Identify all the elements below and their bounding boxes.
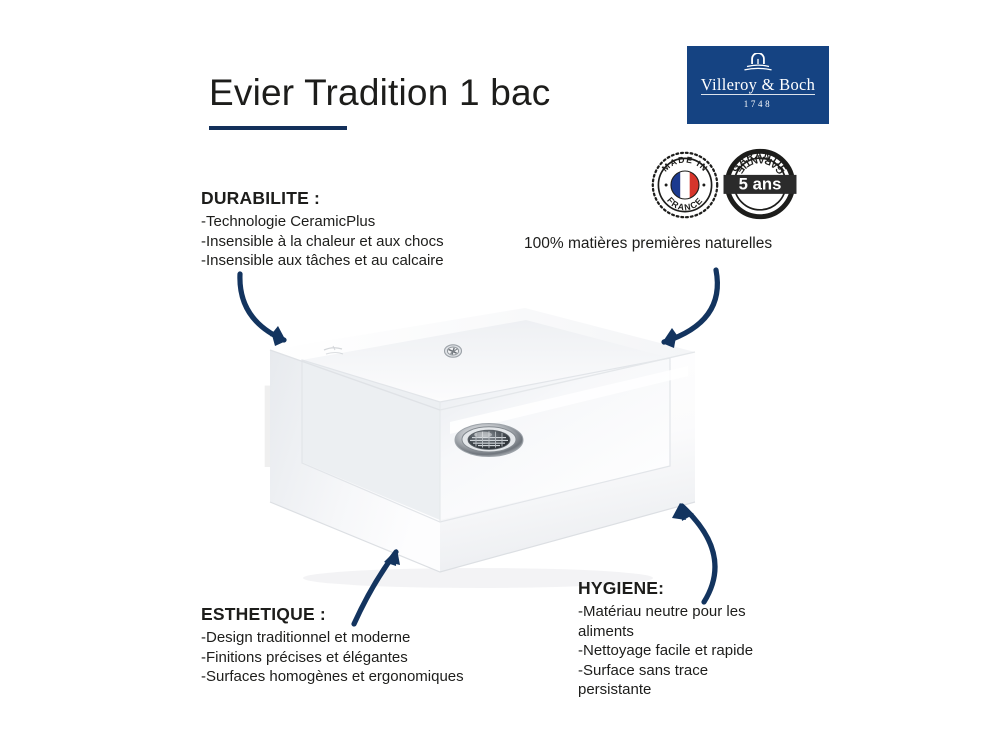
overflow-outlet-icon — [445, 345, 462, 357]
list-item: -Surface sans trace persistante — [578, 661, 760, 700]
brand-logo: Villeroy & Boch 1748 — [687, 46, 829, 124]
list-item: -Matériau neutre pour les aliments — [578, 602, 760, 641]
title-underline-rule — [209, 126, 347, 130]
arrow-to-durabilite — [232, 268, 352, 363]
feature-list-esthetique: -Design traditionnel et moderne -Finitio… — [201, 628, 464, 687]
list-item: -Insensible à la chaleur et aux chocs — [201, 232, 444, 252]
page-title: Evier Tradition 1 bac — [209, 72, 550, 114]
list-item: -Finitions précises et élégantes — [201, 648, 464, 668]
warranty-stamp-icon: GARANTIE GARANTIE 5 ans — [722, 146, 798, 222]
natural-materials-claim: 100% matières premières naturelles — [524, 235, 772, 253]
badge-warranty-value: 5 ans — [739, 175, 782, 194]
arrow-to-hygiene — [658, 492, 758, 607]
arrow-to-esthetique — [352, 532, 472, 630]
list-item: -Design traditionnel et moderne — [201, 628, 464, 648]
list-item: -Technologie CeramicPlus — [201, 212, 444, 232]
infographic-page: Evier Tradition 1 bac Villeroy & Boch 17… — [0, 0, 1000, 750]
feature-list-durabilite: -Technologie CeramicPlus -Insensible à l… — [201, 212, 444, 271]
arrow-to-natural-claim — [638, 266, 758, 364]
feature-heading-durabilite: DURABILITE : — [201, 188, 444, 209]
brand-year: 1748 — [744, 99, 772, 109]
fountain-arch-icon — [741, 53, 775, 75]
feature-list-hygiene: -Matériau neutre pour les aliments -Nett… — [578, 602, 760, 700]
list-item: -Surfaces homogènes et ergonomiques — [201, 667, 464, 687]
feature-block-durabilite: DURABILITE : -Technologie CeramicPlus -I… — [201, 188, 444, 271]
drain-strainer-icon — [455, 424, 523, 457]
list-item: -Nettoyage facile et rapide — [578, 641, 760, 661]
brand-name: Villeroy & Boch — [701, 76, 815, 95]
made-in-france-stamp-icon: MADE IN FRANCE — [650, 150, 720, 220]
